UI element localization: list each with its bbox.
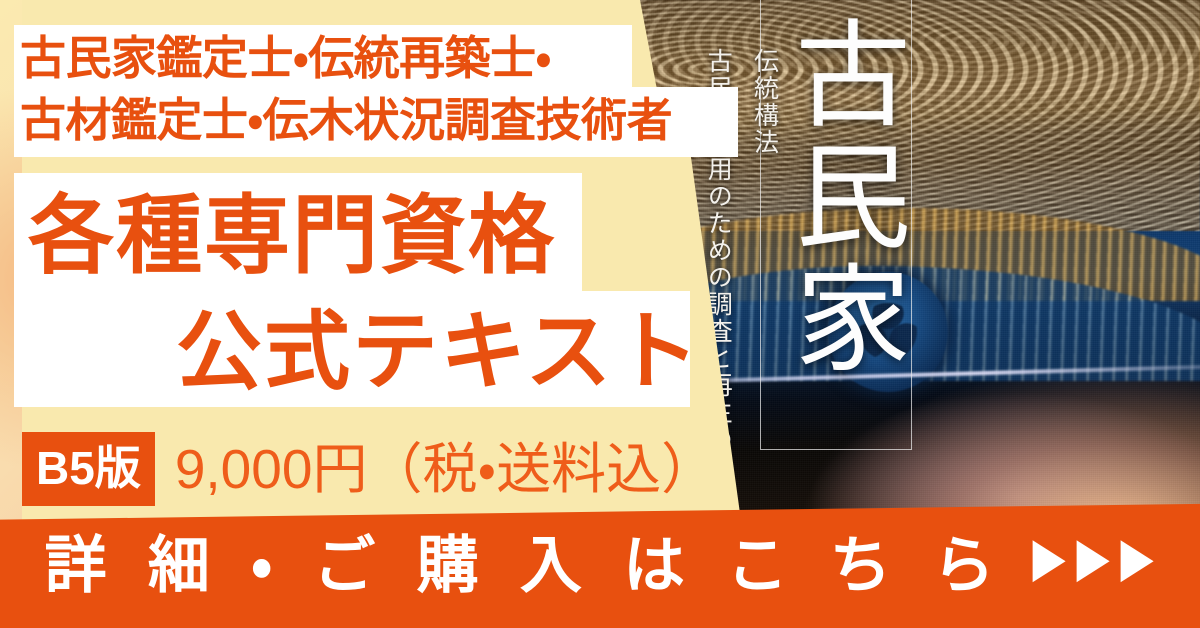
headline-line-1: 古民家鑑定士・伝統再築士・: [16, 27, 736, 89]
play-triangle-icon: [1077, 540, 1110, 582]
promo-banner: 古民家 伝統構法 古民家活用のための調査と再生の 古民家鑑定士・伝統再築士・ 古…: [0, 0, 1200, 628]
play-triangle-icon: [1121, 540, 1154, 582]
headline-line-2: 古材鑑定士・伝木状況調査技術者: [16, 89, 736, 151]
cta-bar-content[interactable]: 詳 細 ・ ご 購 入 は こ ち ら: [0, 504, 1200, 628]
price-label: 9,000円（税・送料込）: [175, 442, 716, 497]
format-badge: B5版: [22, 432, 155, 506]
play-triangle-icon: [1033, 540, 1066, 582]
headline: 古民家鑑定士・伝統再築士・ 古材鑑定士・伝木状況調査技術者: [16, 27, 736, 151]
main-title-line-1: 各種専門資格: [16, 178, 692, 294]
main-title-line-2: 公式テキスト: [16, 294, 692, 410]
main-title: 各種専門資格 公式テキスト: [16, 178, 692, 410]
cta-arrows: [1033, 540, 1154, 582]
cta-bar-footer-fill: [0, 614, 1200, 628]
cta-label: 詳 細 ・ ご 購 入 は こ ち ら: [45, 536, 1007, 598]
price-row: B5版 9,000円（税・送料込）: [22, 432, 716, 506]
cta-bar[interactable]: 詳 細 ・ ご 購 入 は こ ち ら: [0, 503, 1200, 628]
